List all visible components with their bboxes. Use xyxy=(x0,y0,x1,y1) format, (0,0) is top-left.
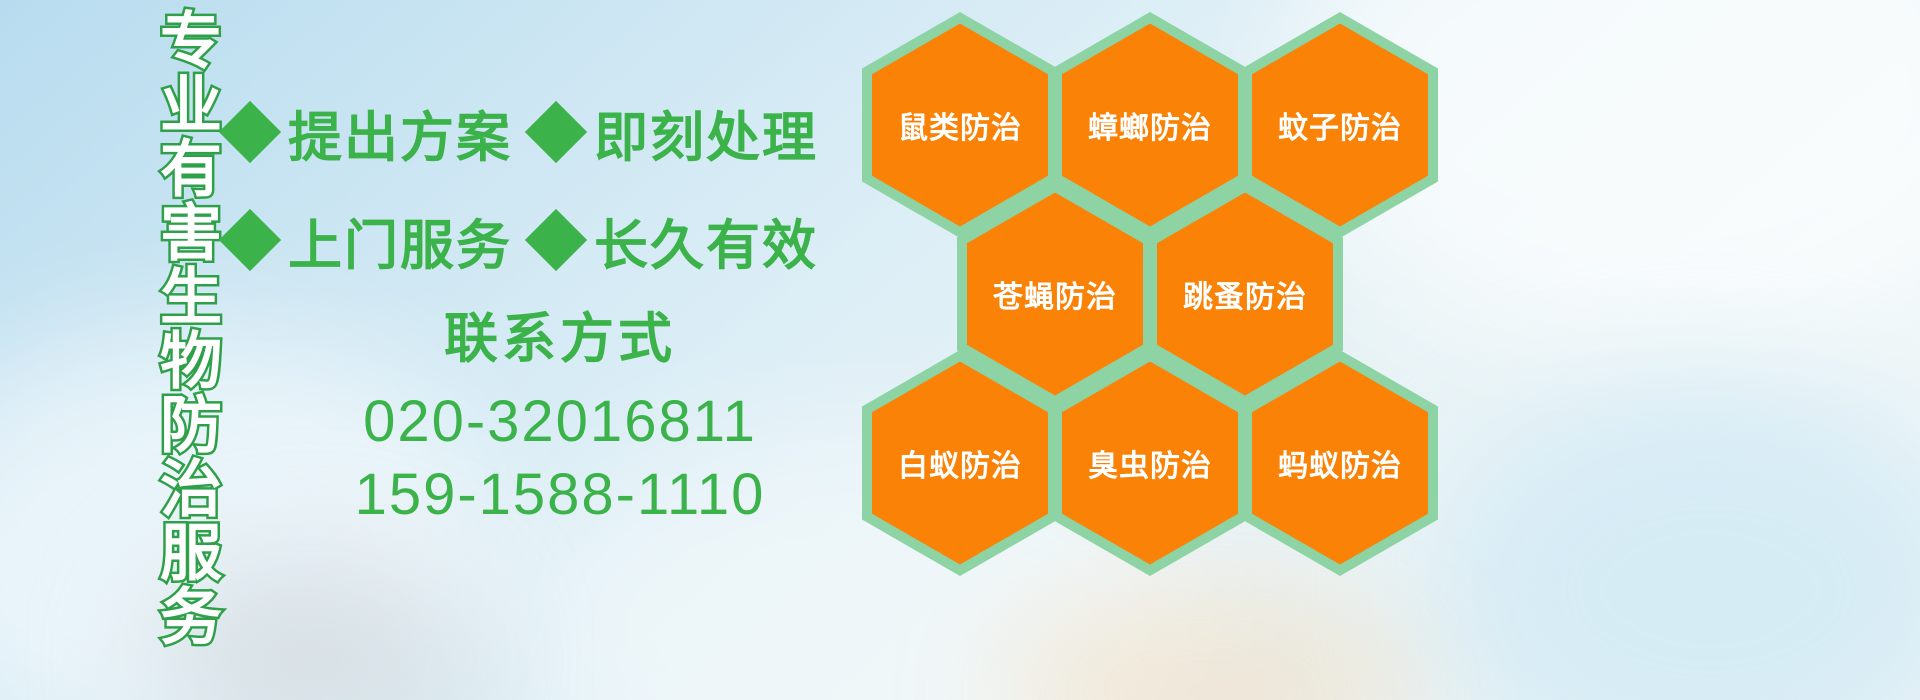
vertical-headline: 专业有害生物防治服务 xyxy=(108,8,216,568)
diamond-icon xyxy=(525,209,587,271)
contact-phone-landline[interactable]: 020-32016811 xyxy=(300,386,820,459)
service-hex-label: 跳蚤防治 xyxy=(1183,272,1307,316)
hex-inner: 跳蚤防治 xyxy=(1157,193,1333,396)
service-hex-label: 白蚁防治 xyxy=(898,441,1022,485)
hex-inner: 白蚁防治 xyxy=(872,362,1048,565)
feature-label: 长久有效 xyxy=(594,201,818,280)
hex-inner: 蟑螂防治 xyxy=(1062,24,1238,227)
service-hex-label: 蚊子防治 xyxy=(1278,103,1402,147)
contact-heading: 联系方式 xyxy=(300,308,820,370)
hex-inner: 臭虫防治 xyxy=(1062,362,1238,565)
pest-control-service-banner: 专业有害生物防治服务 提出方案 即刻处理 上门服务 长久有效 联 xyxy=(0,0,1920,700)
diamond-icon xyxy=(219,209,281,271)
hex-inner: 鼠类防治 xyxy=(872,24,1048,227)
hex-inner: 蚂蚁防治 xyxy=(1252,362,1428,565)
service-hexagon-cluster: 鼠类防治 蟑螂防治 蚊子防治 苍蝇防治 跳蚤防治 白蚁防治 xyxy=(862,6,1442,546)
feature-row: 上门服务 长久有效 xyxy=(228,186,868,294)
background-light-blob xyxy=(1430,380,1920,700)
contact-phone-mobile[interactable]: 159-1588-1110 xyxy=(300,459,820,532)
feature-label: 上门服务 xyxy=(288,201,512,280)
contact-block: 联系方式 020-32016811 159-1588-1110 xyxy=(300,308,820,531)
feature-item: 长久有效 xyxy=(534,201,818,280)
service-hex-label: 蚂蚁防治 xyxy=(1278,441,1402,485)
background-light-blob xyxy=(1000,590,1420,700)
feature-label: 即刻处理 xyxy=(594,93,818,172)
hex-inner: 苍蝇防治 xyxy=(967,193,1143,396)
feature-list: 提出方案 即刻处理 上门服务 长久有效 xyxy=(228,78,868,294)
feature-label: 提出方案 xyxy=(288,93,512,172)
feature-item: 提出方案 xyxy=(228,93,512,172)
service-hex-label: 臭虫防治 xyxy=(1088,441,1212,485)
service-hex-label: 苍蝇防治 xyxy=(993,272,1117,316)
diamond-icon xyxy=(219,101,281,163)
feature-item: 上门服务 xyxy=(228,201,512,280)
hex-inner: 蚊子防治 xyxy=(1252,24,1428,227)
diamond-icon xyxy=(525,101,587,163)
service-hex-label: 鼠类防治 xyxy=(898,103,1022,147)
service-hex-label: 蟑螂防治 xyxy=(1088,103,1212,147)
feature-row: 提出方案 即刻处理 xyxy=(228,78,868,186)
feature-item: 即刻处理 xyxy=(534,93,818,172)
